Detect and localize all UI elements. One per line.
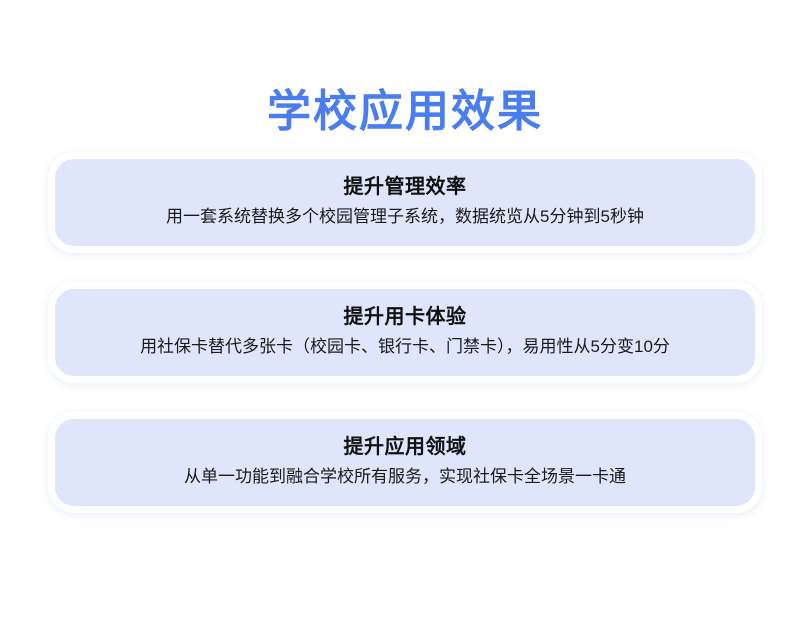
benefit-card-1-description: 用一套系统替换多个校园管理子系统，数据统览从5分钟到5秒钟 bbox=[73, 204, 737, 230]
benefit-card-list: 提升管理效率 用一套系统替换多个校园管理子系统，数据统览从5分钟到5秒钟 提升用… bbox=[0, 152, 810, 513]
benefit-card-2: 提升用卡体验 用社保卡替代多张卡（校园卡、银行卡、门禁卡），易用性从5分变10分 bbox=[48, 282, 762, 383]
benefit-card-3-heading: 提升应用领域 bbox=[73, 433, 737, 461]
benefit-card-1: 提升管理效率 用一套系统替换多个校园管理子系统，数据统览从5分钟到5秒钟 bbox=[48, 152, 762, 253]
page-title: 学校应用效果 bbox=[0, 86, 810, 138]
page-root: 学校应用效果 提升管理效率 用一套系统替换多个校园管理子系统，数据统览从5分钟到… bbox=[0, 0, 810, 622]
benefit-card-2-heading: 提升用卡体验 bbox=[73, 303, 737, 331]
benefit-card-1-heading: 提升管理效率 bbox=[73, 173, 737, 201]
benefit-card-3-description: 从单一功能到融合学校所有服务，实现社保卡全场景一卡通 bbox=[73, 464, 737, 490]
benefit-card-3: 提升应用领域 从单一功能到融合学校所有服务，实现社保卡全场景一卡通 bbox=[48, 412, 762, 513]
benefit-card-2-description: 用社保卡替代多张卡（校园卡、银行卡、门禁卡），易用性从5分变10分 bbox=[73, 334, 737, 360]
